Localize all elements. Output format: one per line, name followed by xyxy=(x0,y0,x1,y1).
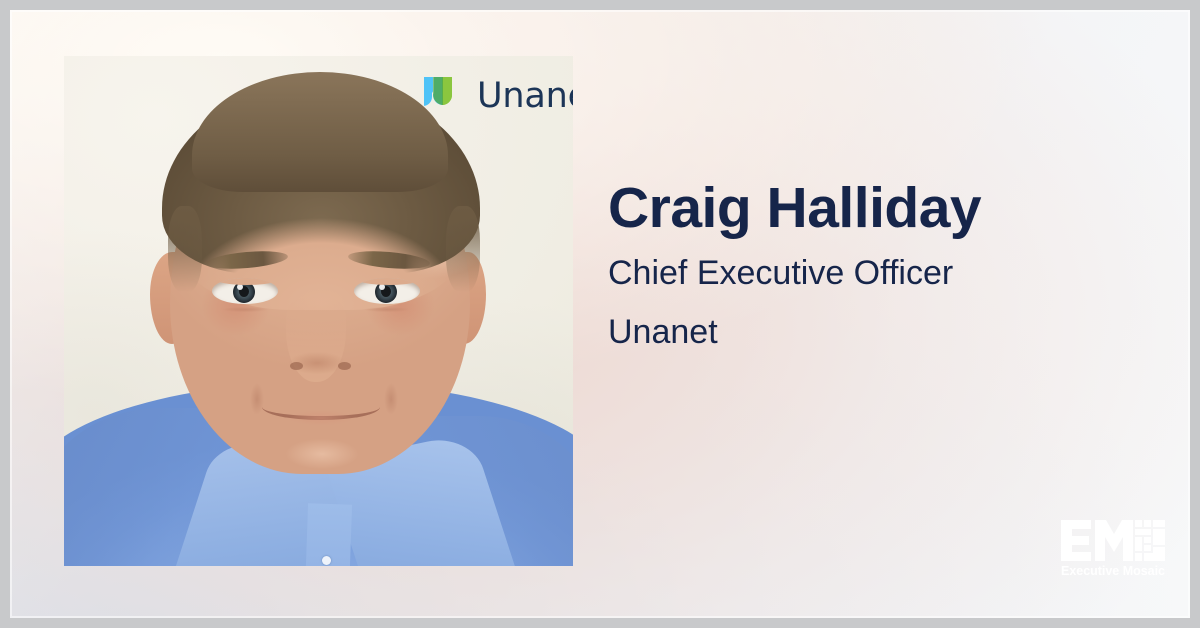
under-eye-right xyxy=(356,306,418,313)
promo-card: Unanet. Craig Halliday Chief Executive O… xyxy=(0,0,1200,628)
executive-mosaic-logo: Executive Mosaic xyxy=(1053,510,1173,580)
headshot-photo: Unanet. xyxy=(64,56,573,566)
sideburn-right xyxy=(446,206,480,292)
unanet-logo: Unanet. xyxy=(422,74,573,119)
unanet-wordmark: Unanet. xyxy=(477,79,573,114)
nostril-left xyxy=(290,362,303,370)
executive-mosaic-wordmark: Executive Mosaic xyxy=(1061,563,1165,578)
smile-line-right xyxy=(382,378,400,420)
chin-highlight xyxy=(274,434,370,474)
nostril-right xyxy=(338,362,351,370)
person-name: Craig Halliday xyxy=(608,178,1168,240)
sideburn-left xyxy=(168,206,202,292)
lower-lip xyxy=(278,408,364,428)
under-eye-left xyxy=(214,306,276,313)
eyelid-left xyxy=(212,278,278,285)
eyelid-right xyxy=(354,278,420,285)
shirt-button xyxy=(322,556,331,565)
person-organization: Unanet xyxy=(608,313,1168,352)
unanet-mark-icon xyxy=(422,74,464,119)
person-info: Craig Halliday Chief Executive Officer U… xyxy=(608,178,1168,352)
eye-left xyxy=(212,278,278,304)
eye-right xyxy=(354,278,420,304)
person-title: Chief Executive Officer xyxy=(608,254,1168,293)
